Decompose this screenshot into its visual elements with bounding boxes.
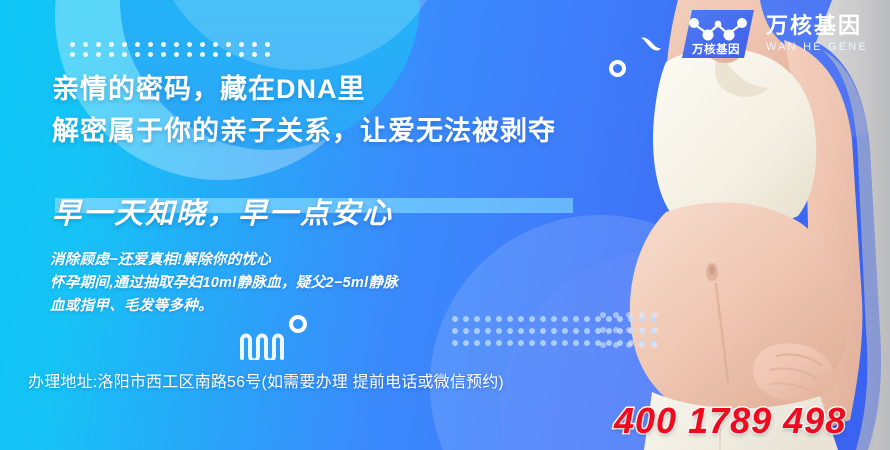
office-address: 办理地址:洛阳市西工区南路56号(如需要办理 提前电话或微信预约) xyxy=(28,368,504,392)
decor-dotgrid-top-left xyxy=(70,42,278,62)
decor-arc-top-left-upper xyxy=(150,0,450,70)
body-line-3: 血或指甲、毛发等多种。 xyxy=(50,295,398,318)
advertisement-banner: 万核基因 万核基因 WAN HE GENE 亲情的密码，藏在DNA里 解密属于你… xyxy=(0,0,890,450)
logo-name-cn: 万核基因 xyxy=(766,15,868,37)
headline-line-2: 解密属于你的亲子关系，让爱无法被剥夺 xyxy=(52,110,556,152)
brand-logo: 万核基因 万核基因 WAN HE GENE xyxy=(682,10,868,58)
dna-molecule-icon: 万核基因 xyxy=(682,10,754,58)
wave-squiggle-icon xyxy=(238,330,288,360)
logo-name-en: WAN HE GENE xyxy=(766,42,868,53)
body-line-2: 怀孕期间,通过抽取孕妇10ml静脉血，疑父2−5ml静脉 xyxy=(50,272,398,295)
subheadline-group: 早一天知晓，早一点安心 xyxy=(52,190,612,234)
subheadline: 早一天知晓，早一点安心 xyxy=(52,190,393,232)
pregnant-woman-photo xyxy=(580,0,890,450)
body-copy: 消除顾虑−还爱真相!解除你的忧心 怀孕期间,通过抽取孕妇10ml静脉血，疑父2−… xyxy=(50,249,398,318)
phone-number[interactable]: 400 1789 498 xyxy=(614,400,846,442)
headline-line-1: 亲情的密码，藏在DNA里 xyxy=(52,68,556,110)
logo-badge-text: 万核基因 xyxy=(691,42,740,56)
body-line-1: 消除顾虑−还爱真相!解除你的忧心 xyxy=(50,249,398,272)
headline: 亲情的密码，藏在DNA里 解密属于你的亲子关系，让爱无法被剥夺 xyxy=(52,68,556,152)
